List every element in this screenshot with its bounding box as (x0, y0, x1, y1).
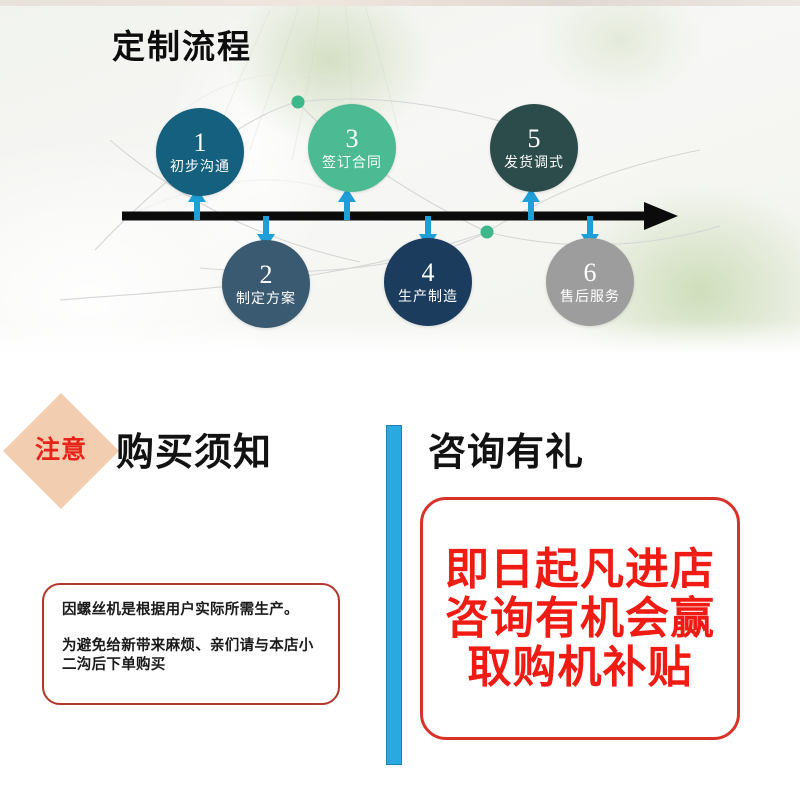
page-title: 定制流程 (112, 20, 252, 68)
notice-text-box: 因螺丝机是根据用户实际所需生产。 为避免给新带来麻烦、亲们请与本店小二沟后下单购… (42, 583, 340, 705)
process-step-6-number: 6 (584, 260, 597, 286)
promo-line-3: 取购机补贴 (468, 643, 693, 692)
process-step-2[interactable]: 2 制定方案 (222, 240, 310, 328)
section-divider-bar (386, 425, 402, 765)
process-step-4-number: 4 (422, 260, 435, 286)
notice-badge-label: 注意 (25, 430, 97, 466)
process-step-1[interactable]: 1 初步沟通 (156, 108, 244, 196)
process-step-5-label: 发货调式 (504, 157, 564, 171)
process-step-2-label: 制定方案 (236, 293, 296, 307)
junction-dot (292, 96, 305, 109)
process-step-2-number: 2 (260, 262, 273, 288)
notice-line-1: 因螺丝机是根据用户实际所需生产。 (62, 601, 320, 621)
consult-gift-heading: 咨询有礼 (428, 421, 584, 476)
process-step-1-number: 1 (194, 130, 207, 156)
process-step-1-label: 初步沟通 (170, 161, 230, 175)
process-step-6-label: 售后服务 (560, 291, 620, 305)
process-step-3-label: 签订合同 (322, 157, 382, 171)
process-step-3[interactable]: 3 签订合同 (308, 104, 396, 192)
promo-line-2: 咨询有机会赢 (445, 594, 715, 643)
process-flow-section: 定制流程 (0, 0, 800, 360)
process-step-6[interactable]: 6 售后服务 (546, 238, 634, 326)
promo-text-box: 即日起凡进店 咨询有机会赢 取购机补贴 (420, 497, 740, 740)
notice-line-2: 为避免给新带来麻烦、亲们请与本店小二沟后下单购买 (62, 637, 320, 676)
info-section: 注意 购买须知 咨询有礼 因螺丝机是根据用户实际所需生产。 为避免给新带来麻烦、… (0, 360, 800, 790)
process-step-4[interactable]: 4 生产制造 (384, 238, 472, 326)
junction-dot (481, 226, 494, 239)
process-step-5-number: 5 (528, 126, 541, 152)
purchase-notice-heading: 购买须知 (116, 421, 272, 476)
process-step-5[interactable]: 5 发货调式 (490, 104, 578, 192)
process-step-4-label: 生产制造 (398, 291, 458, 305)
process-step-3-number: 3 (346, 126, 359, 152)
promo-line-1: 即日起凡进店 (445, 545, 715, 594)
